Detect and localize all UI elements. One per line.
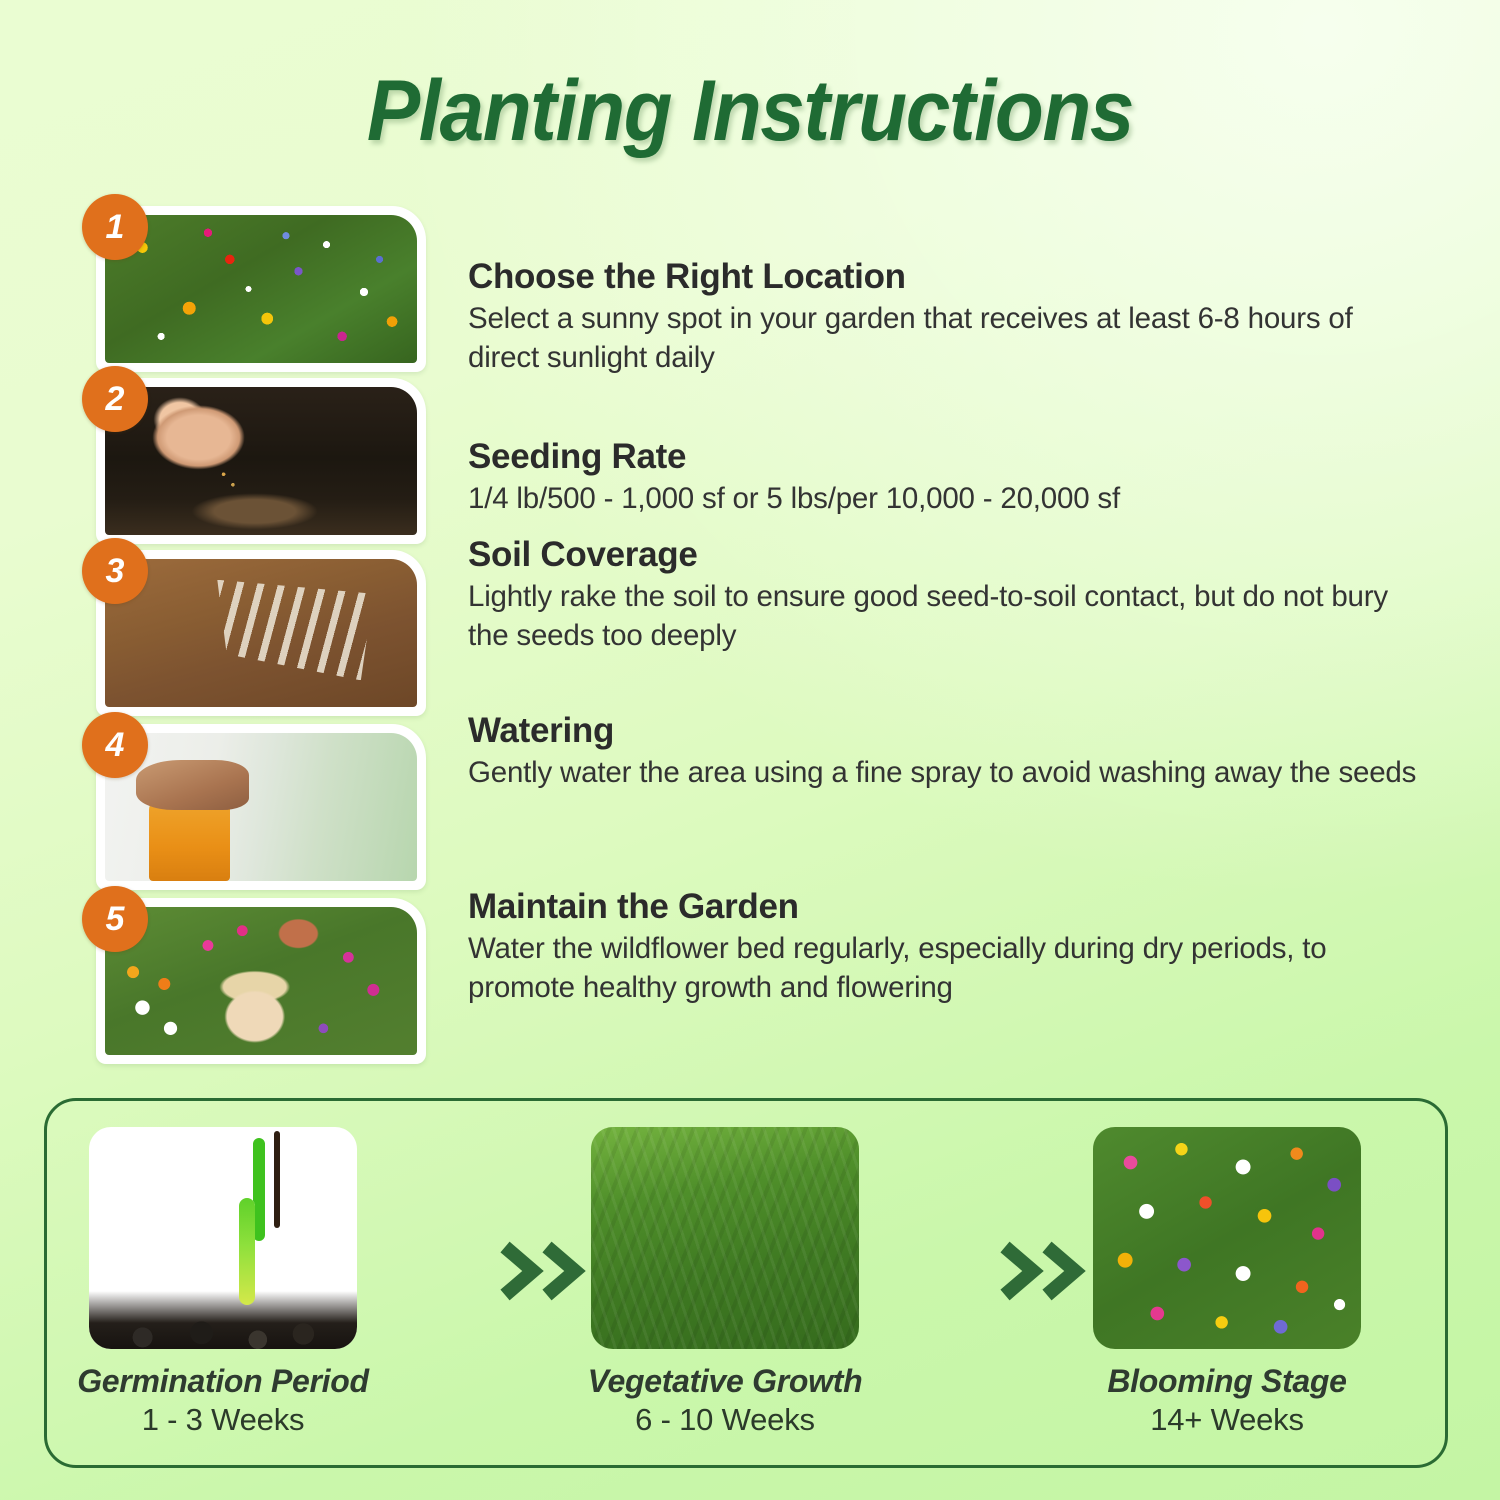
- step-item: 3 Soil Coverage Lightly rake the soil to…: [0, 550, 1500, 724]
- spray-bottle-watering-photo: [105, 733, 417, 881]
- header: Planting Instructions: [0, 0, 1500, 161]
- step-title: Watering: [468, 712, 1428, 750]
- timeline-stage-value: 1 - 3 Weeks: [73, 1402, 373, 1438]
- rake-on-soil-photo: [105, 559, 417, 707]
- blooming-flowers-photo: [1093, 1127, 1361, 1349]
- timeline-stage-value: 14+ Weeks: [1077, 1402, 1377, 1438]
- seedling-sprout-photo: [89, 1127, 357, 1349]
- step-description: Lightly rake the soil to ensure good see…: [468, 578, 1428, 656]
- step-thumbnail: 2: [96, 378, 426, 544]
- hand-sowing-seeds-photo: [105, 387, 417, 535]
- step-text: Choose the Right Location Select a sunny…: [468, 258, 1428, 378]
- timeline-stage-label: Germination Period: [73, 1363, 373, 1400]
- step-text: Maintain the Garden Water the wildflower…: [468, 888, 1428, 1008]
- timeline-stage: Germination Period 1 - 3 Weeks: [73, 1127, 373, 1438]
- step-item: 1 Choose the Right Location Select a sun…: [0, 206, 1500, 380]
- step-number-badge: 2: [82, 366, 148, 432]
- step-title: Soil Coverage: [468, 536, 1428, 574]
- step-thumbnail: 3: [96, 550, 426, 716]
- step-description: Water the wildflower bed regularly, espe…: [468, 930, 1428, 1008]
- step-number-badge: 3: [82, 538, 148, 604]
- step-item: 4 Watering Gently water the area using a…: [0, 724, 1500, 898]
- timeline-stage-label: Vegetative Growth: [575, 1363, 875, 1400]
- step-number-badge: 1: [82, 194, 148, 260]
- step-item: 5 Maintain the Garden Water the wildflow…: [0, 898, 1500, 1072]
- step-number-badge: 5: [82, 886, 148, 952]
- timeline-stage: Blooming Stage 14+ Weeks: [1077, 1127, 1377, 1438]
- woman-lying-in-flower-garden-photo: [105, 907, 417, 1055]
- step-title: Seeding Rate: [468, 438, 1428, 476]
- growth-timeline-panel: Germination Period 1 - 3 Weeks Vegetativ…: [44, 1098, 1448, 1468]
- page-title: Planting Instructions: [367, 62, 1133, 161]
- step-thumbnail: 5: [96, 898, 426, 1064]
- step-text: Soil Coverage Lightly rake the soil to e…: [468, 536, 1428, 656]
- step-thumbnail: 4: [96, 724, 426, 890]
- step-text: Watering Gently water the area using a f…: [468, 712, 1428, 793]
- step-title: Choose the Right Location: [468, 258, 1428, 296]
- wildflower-meadow-photo: [105, 215, 417, 363]
- step-description: 1/4 lb/500 - 1,000 sf or 5 lbs/per 10,00…: [468, 480, 1428, 519]
- timeline-stage-label: Blooming Stage: [1077, 1363, 1377, 1400]
- step-title: Maintain the Garden: [468, 888, 1428, 926]
- step-thumbnail: 1: [96, 206, 426, 372]
- step-text: Seeding Rate 1/4 lb/500 - 1,000 sf or 5 …: [468, 438, 1428, 519]
- green-foliage-photo: [591, 1127, 859, 1349]
- step-description: Gently water the area using a fine spray…: [468, 754, 1428, 793]
- step-item: 2 Seeding Rate 1/4 lb/500 - 1,000 sf or …: [0, 378, 1500, 552]
- step-number-badge: 4: [82, 712, 148, 778]
- step-description: Select a sunny spot in your garden that …: [468, 300, 1428, 378]
- timeline-stage: Vegetative Growth 6 - 10 Weeks: [575, 1127, 875, 1438]
- timeline-stage-value: 6 - 10 Weeks: [575, 1402, 875, 1438]
